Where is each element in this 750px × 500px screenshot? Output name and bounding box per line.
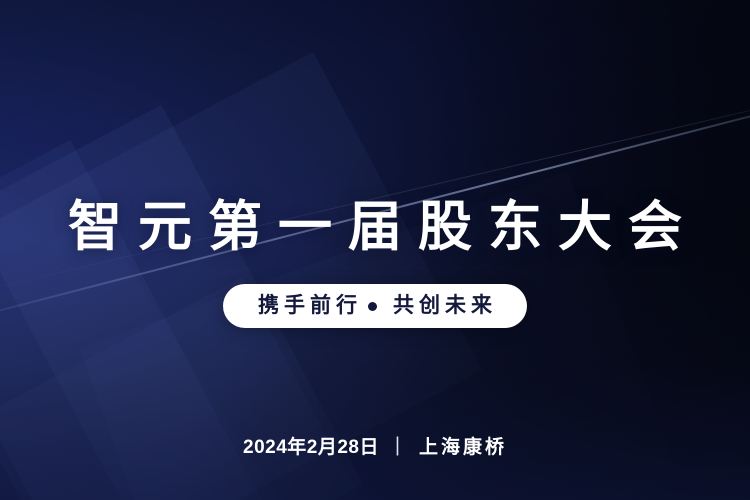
event-poster: 智元第一届股东大会 携手前行 共创未来 2024年2月28日 | 上海康桥 bbox=[0, 0, 750, 500]
slogan-text-right: 共创未来 bbox=[388, 284, 497, 328]
page-title: 智元第一届股东大会 bbox=[0, 196, 750, 258]
slogan-text-left: 携手前行 bbox=[253, 284, 362, 328]
footer-info: 2024年2月28日 | 上海康桥 bbox=[0, 432, 750, 459]
slogan-pill: 携手前行 共创未来 bbox=[223, 284, 527, 328]
poster-content: 智元第一届股东大会 携手前行 共创未来 2024年2月28日 | 上海康桥 bbox=[0, 0, 750, 500]
event-date: 2024年2月28日 bbox=[243, 432, 379, 459]
event-venue: 上海康桥 bbox=[416, 432, 507, 459]
footer-separator: | bbox=[395, 434, 400, 457]
bullet-dot-icon bbox=[368, 302, 377, 311]
